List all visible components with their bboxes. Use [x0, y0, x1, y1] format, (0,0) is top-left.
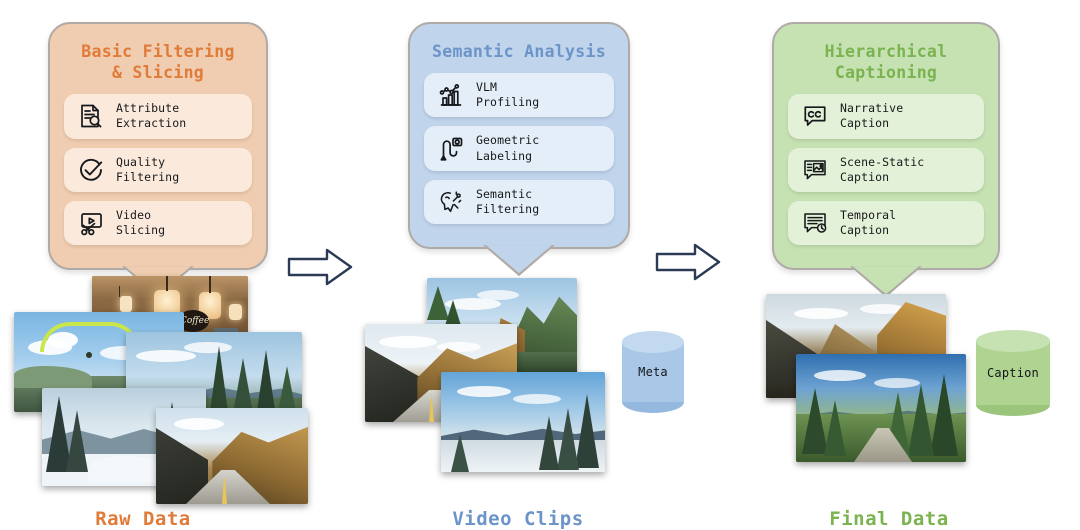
- right-arrow-icon: [655, 242, 721, 282]
- stage-basic-filtering-slicing: Basic Filtering & Slicing Attribute Extr…: [48, 22, 268, 270]
- brain-gear-icon: [437, 188, 465, 216]
- thumbnail-final-forest-path: [796, 354, 966, 462]
- card-label: VLM Profiling: [476, 80, 539, 110]
- stage-title: Semantic Analysis: [424, 41, 614, 62]
- stage-title: Hierarchical Captioning: [788, 41, 984, 83]
- meta-db-label: Meta: [622, 331, 684, 413]
- card-narrative-caption[interactable]: Narrative Caption: [788, 94, 984, 138]
- stage-panel: Semantic Analysis VLM Profi: [408, 22, 630, 249]
- card-label: Geometric Labeling: [476, 133, 539, 163]
- thumbnail-clip-snow-vista: [441, 372, 605, 472]
- stage-semantic-analysis: Semantic Analysis VLM Profi: [408, 22, 630, 249]
- closed-caption-icon: [801, 102, 829, 130]
- card-video-slicing[interactable]: Video Slicing: [64, 201, 252, 245]
- final-data-image-stack: [752, 282, 1002, 476]
- video-scissors-icon: [77, 209, 105, 237]
- check-circle-icon: [77, 156, 105, 184]
- image-caption-icon: [801, 156, 829, 184]
- card-label: Temporal Caption: [840, 208, 896, 238]
- thumbnail-canyon-road: [156, 408, 308, 504]
- label-final-data: Final Data: [780, 508, 998, 530]
- raw-data-image-stack: Coffee: [14, 276, 314, 476]
- stage-hierarchical-captioning: Hierarchical Captioning Narrative Captio…: [772, 22, 1000, 270]
- card-label: Semantic Filtering: [476, 187, 539, 217]
- card-temporal-caption[interactable]: Temporal Caption: [788, 201, 984, 245]
- card-label: Quality Filtering: [116, 155, 179, 185]
- pipeline-diagram: Basic Filtering & Slicing Attribute Extr…: [0, 0, 1080, 530]
- card-attribute-extraction[interactable]: Attribute Extraction: [64, 94, 252, 138]
- camera-path-icon: [437, 135, 465, 163]
- label-raw-data: Raw Data: [40, 508, 246, 530]
- card-semantic-filtering[interactable]: Semantic Filtering: [424, 180, 614, 224]
- caption-db: Caption: [976, 330, 1050, 416]
- card-label: Video Slicing: [116, 208, 165, 238]
- video-clips-image-stack: [365, 278, 625, 476]
- card-label: Attribute Extraction: [116, 101, 186, 131]
- card-vlm-profiling[interactable]: VLM Profiling: [424, 73, 614, 117]
- caption-db-label: Caption: [976, 330, 1050, 416]
- document-search-icon: [77, 102, 105, 130]
- card-geometric-labeling[interactable]: Geometric Labeling: [424, 126, 614, 170]
- stage-title: Basic Filtering & Slicing: [64, 41, 252, 83]
- bar-chart-trend-icon: [437, 81, 465, 109]
- stage-panel: Hierarchical Captioning Narrative Captio…: [772, 22, 1000, 270]
- card-scene-static-caption[interactable]: Scene-Static Caption: [788, 148, 984, 192]
- card-quality-filtering[interactable]: Quality Filtering: [64, 148, 252, 192]
- card-label: Narrative Caption: [840, 101, 903, 131]
- label-video-clips: Video Clips: [400, 508, 636, 530]
- text-clock-icon: [801, 209, 829, 237]
- stage-panel: Basic Filtering & Slicing Attribute Extr…: [48, 22, 268, 270]
- meta-db: Meta: [622, 331, 684, 413]
- panel-tail: [486, 245, 552, 273]
- card-label: Scene-Static Caption: [840, 155, 924, 185]
